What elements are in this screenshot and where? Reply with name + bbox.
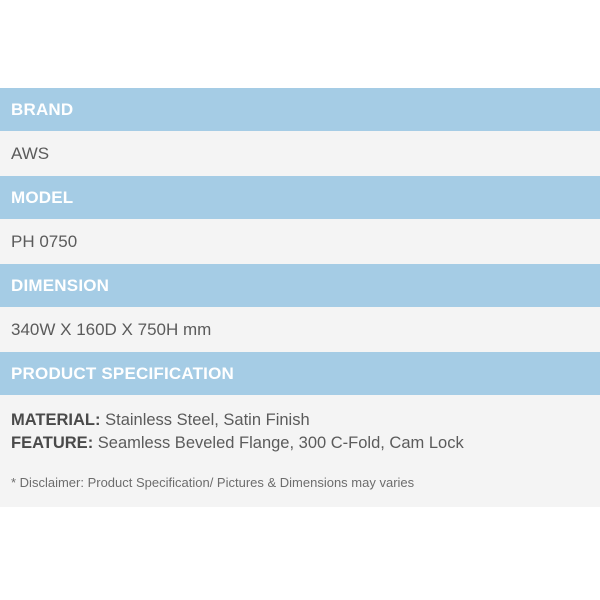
spec-line-feature: FEATURE: Seamless Beveled Flange, 300 C-… [11,432,589,455]
spec-header-model: MODEL [0,176,600,219]
spec-header-product-specification: PRODUCT SPECIFICATION [0,352,600,395]
spec-line-material-text: Stainless Steel, Satin Finish [105,411,310,429]
spec-value-brand: AWS [0,131,600,176]
spec-line-material-label: MATERIAL: [11,411,101,429]
spec-header-dimension: DIMENSION [0,264,600,307]
spec-body-product-specification: MATERIAL: Stainless Steel, Satin Finish … [0,395,600,507]
spec-line-feature-label: FEATURE: [11,434,93,452]
product-spec-sheet: BRAND AWS MODEL PH 0750 DIMENSION 340W X… [0,88,600,507]
spec-header-brand: BRAND [0,88,600,131]
spec-value-model: PH 0750 [0,219,600,264]
spec-value-dimension: 340W X 160D X 750H mm [0,307,600,352]
spec-line-feature-text: Seamless Beveled Flange, 300 C-Fold, Cam… [98,434,464,452]
spec-line-material: MATERIAL: Stainless Steel, Satin Finish [11,409,589,432]
disclaimer-text: * Disclaimer: Product Specification/ Pic… [11,475,589,491]
